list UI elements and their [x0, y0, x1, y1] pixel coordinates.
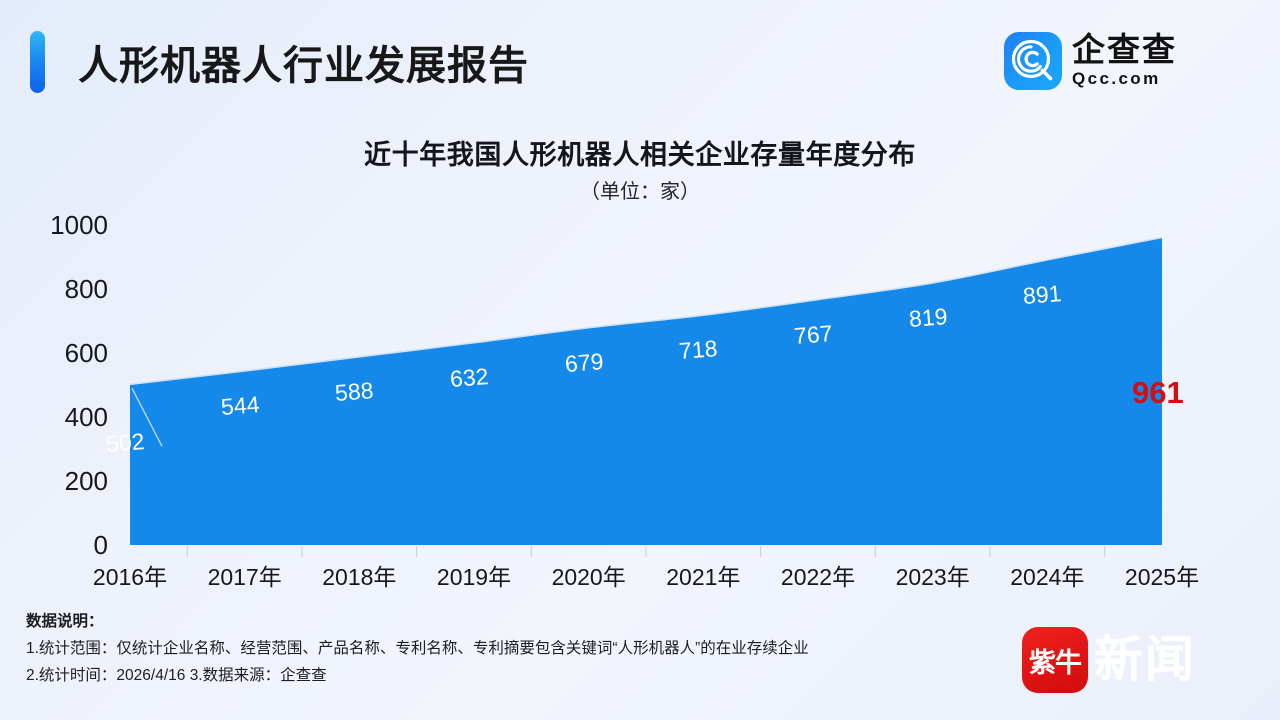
ziniu-mark-icon: 紫牛	[1022, 627, 1088, 693]
qcc-wordmark: 企查查 Qcc.com	[1072, 33, 1177, 89]
x-axis-tick: 2025年	[1097, 564, 1227, 590]
chart-axes	[187, 546, 1104, 557]
x-axis-tick: 2021年	[638, 564, 768, 590]
data-point-label: 891	[1022, 281, 1062, 308]
area-fill	[130, 237, 1162, 545]
data-point-label: 632	[449, 364, 489, 391]
area-chart: 020040060080010002016年2017年2018年2019年202…	[0, 205, 1280, 600]
x-axis-tick: 2018年	[294, 564, 424, 590]
notes-heading: 数据说明：	[26, 608, 1036, 635]
data-notes: 数据说明： 1.统计范围：仅统计企业名称、经营范围、产品名称、专利名称、专利摘要…	[26, 608, 1036, 689]
data-point-label: 767	[793, 321, 833, 348]
page-header: 人形机器人行业发展报告 企查查 Qcc.com	[0, 0, 1280, 120]
data-point-label: 502	[105, 429, 145, 456]
page-title: 人形机器人行业发展报告	[78, 33, 529, 91]
chart-canvas	[0, 205, 1280, 600]
x-axis-tick: 2016年	[65, 564, 195, 590]
highlighted-data-point-label: 961	[1132, 377, 1184, 409]
news-word-label: 新闻	[1094, 629, 1196, 691]
notes-line-2: 2.统计时间：2026/4/16 3.数据来源：企查查	[26, 662, 1036, 689]
chart-subtitle: （单位：家）	[0, 175, 1280, 204]
y-axis-tick: 1000	[8, 212, 108, 238]
x-axis-tick: 2023年	[868, 564, 998, 590]
chart-title: 近十年我国人形机器人相关企业存量年度分布	[0, 133, 1280, 172]
x-axis-tick: 2019年	[409, 564, 539, 590]
y-axis-tick: 200	[8, 468, 108, 494]
notes-line-1: 1.统计范围：仅统计企业名称、经营范围、产品名称、专利名称、专利摘要包含关键词“…	[26, 635, 1036, 662]
y-axis-tick: 0	[8, 532, 108, 558]
y-axis-tick: 800	[8, 276, 108, 302]
y-axis-tick: 400	[8, 404, 108, 430]
x-axis-tick: 2017年	[180, 564, 310, 590]
header-accent-bar	[30, 31, 45, 93]
data-point-label: 679	[564, 349, 604, 376]
y-axis-tick: 600	[8, 340, 108, 366]
ziniu-news-logo: 紫牛 新闻	[1022, 627, 1227, 695]
data-point-label: 544	[220, 392, 260, 419]
data-point-label: 588	[334, 378, 374, 405]
x-axis-tick: 2024年	[982, 564, 1112, 590]
x-axis-tick: 2020年	[524, 564, 654, 590]
chart-series	[130, 237, 1162, 545]
qcc-logo: 企查查 Qcc.com	[1004, 32, 1224, 92]
ziniu-mark-label: 紫牛	[1022, 627, 1088, 693]
data-point-label: 718	[678, 336, 718, 363]
qcc-name-en: Qcc.com	[1072, 68, 1177, 89]
x-axis-tick: 2022年	[753, 564, 883, 590]
qcc-magnifier-icon	[1004, 32, 1062, 90]
data-point-label: 819	[908, 304, 948, 331]
qcc-name-cn: 企查查	[1072, 33, 1177, 67]
